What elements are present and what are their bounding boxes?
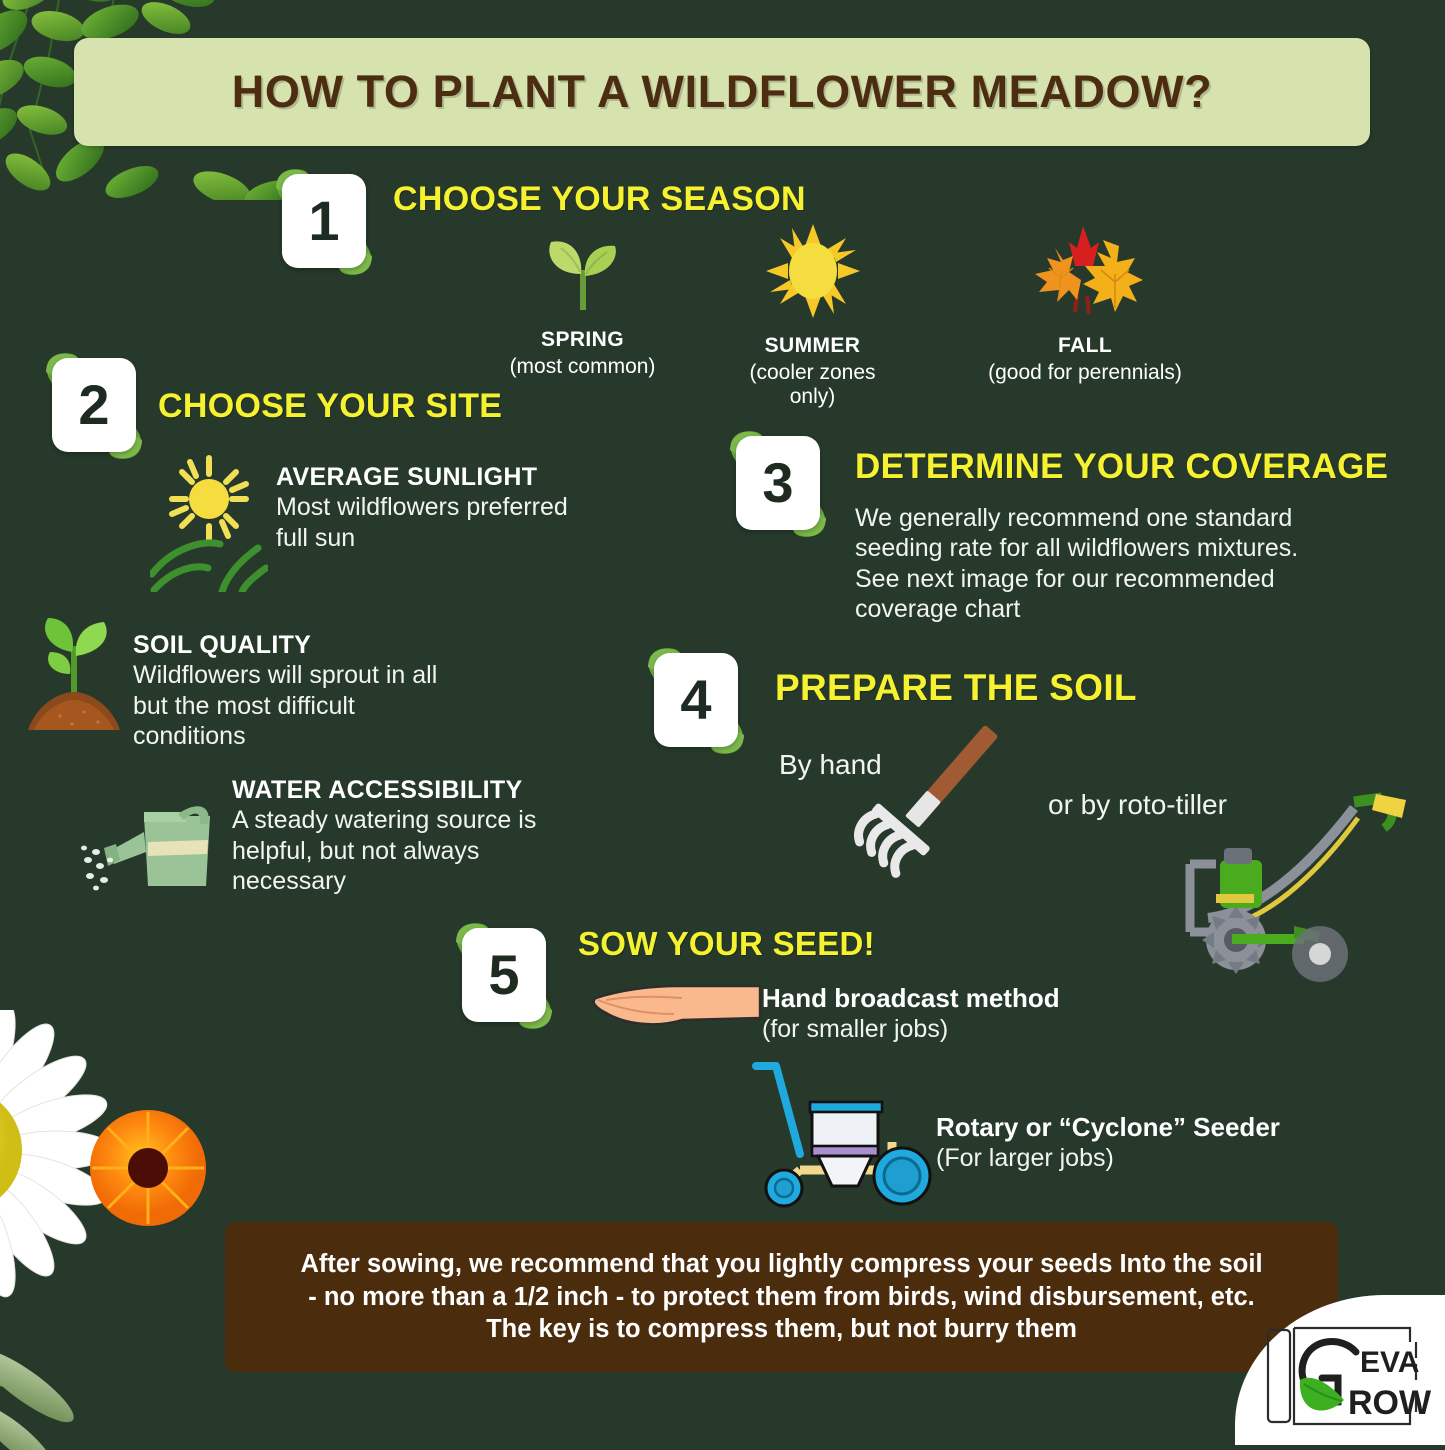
open-hand-icon <box>586 972 766 1048</box>
step-number: 2 <box>78 377 109 433</box>
rotary-seeder-note: (For larger jobs) <box>936 1143 1356 1173</box>
sun-icon <box>730 222 895 320</box>
season-spring: SPRING (most common) <box>500 222 665 379</box>
sun-over-field-icon <box>150 452 268 592</box>
daisy-and-calendula-decoration <box>0 1010 260 1450</box>
step-badge-4: 4 <box>640 645 752 757</box>
season-fall-note: (good for perennials) <box>985 361 1185 385</box>
step-3-heading: DETERMINE YOUR COVERAGE <box>855 447 1388 487</box>
water-line-3: necessary <box>232 866 652 896</box>
logo-line-2: ROW <box>1348 1384 1432 1422</box>
hand-broadcast-title: Hand broadcast method <box>762 983 1162 1014</box>
step-2-heading: CHOOSE YOUR SITE <box>158 387 502 426</box>
season-spring-note: (most common) <box>500 355 665 379</box>
rake-icon <box>840 720 1070 890</box>
coverage-line-4: coverage chart <box>855 594 1395 624</box>
step-badge-5: 5 <box>448 920 560 1032</box>
rotary-seeder-icon <box>742 1058 946 1220</box>
sunlight-line-1: Most wildflowers preferred <box>276 492 666 522</box>
coverage-text-block: We generally recommend one standard seed… <box>855 503 1395 624</box>
maple-leaves-icon <box>985 222 1185 320</box>
water-line-2: helpful, but not always <box>232 836 652 866</box>
rototiller-icon <box>1168 782 1445 998</box>
step-number: 3 <box>762 455 793 511</box>
page-title-banner: HOW TO PLANT A WILDFLOWER MEADOW? <box>74 38 1370 146</box>
season-fall: FALL (good for perennials) <box>985 222 1185 385</box>
badge-card: 2 <box>52 358 136 452</box>
seedling-icon <box>500 222 665 314</box>
logo-line-1: EVA <box>1360 1346 1419 1379</box>
sunlight-line-2: full sun <box>276 523 666 553</box>
watering-can-icon <box>78 790 228 900</box>
step-badge-3: 3 <box>722 428 834 540</box>
step-number: 4 <box>680 672 711 728</box>
soil-line-1: Wildflowers will sprout in all <box>133 660 533 690</box>
badge-card: 3 <box>736 436 820 530</box>
sunlight-text-block: AVERAGE SUNLIGHT Most wildflowers prefer… <box>276 462 666 553</box>
sunlight-title: AVERAGE SUNLIGHT <box>276 462 666 492</box>
season-summer-note: (cooler zones only) <box>730 361 895 409</box>
water-title: WATER ACCESSIBILITY <box>232 775 652 805</box>
badge-card: 1 <box>282 174 366 268</box>
step-number: 1 <box>308 193 339 249</box>
season-spring-name: SPRING <box>500 328 665 352</box>
footer-line-1: After sowing, we recommend that you ligh… <box>300 1250 1262 1278</box>
badge-card: 4 <box>654 653 738 747</box>
infographic-canvas: HOW TO PLANT A WILDFLOWER MEADOW? 1 CHOO… <box>0 0 1445 1445</box>
soil-text-block: SOIL QUALITY Wildflowers will sprout in … <box>133 630 533 751</box>
rotary-seeder-title: Rotary or “Cyclone” Seeder <box>936 1112 1356 1143</box>
footer-note-box: After sowing, we recommend that you ligh… <box>225 1222 1338 1372</box>
coverage-line-3: See next image for our recommended <box>855 564 1395 594</box>
rotary-seeder-text: Rotary or “Cyclone” Seeder (For larger j… <box>936 1112 1356 1174</box>
season-fall-name: FALL <box>985 334 1185 358</box>
hand-broadcast-note: (for smaller jobs) <box>762 1014 1162 1044</box>
step-5-heading: SOW YOUR SEED! <box>578 925 875 963</box>
soil-title: SOIL QUALITY <box>133 630 533 660</box>
footer-line-3: The key is to compress them, but not bur… <box>486 1315 1077 1343</box>
soil-line-3: conditions <box>133 721 533 751</box>
coverage-line-2: seeding rate for all wildflowers mixture… <box>855 533 1395 563</box>
water-line-1: A steady watering source is <box>232 805 652 835</box>
coverage-line-1: We generally recommend one standard <box>855 503 1395 533</box>
soil-line-2: but the most difficult <box>133 691 533 721</box>
page-title: HOW TO PLANT A WILDFLOWER MEADOW? <box>232 66 1213 118</box>
sprout-in-soil-icon <box>18 612 130 732</box>
step-badge-2: 2 <box>38 350 150 462</box>
water-text-block: WATER ACCESSIBILITY A steady watering so… <box>232 775 652 896</box>
step-number: 5 <box>488 947 519 1003</box>
step-1-heading: CHOOSE YOUR SEASON <box>393 180 806 219</box>
season-summer: SUMMER (cooler zones only) <box>730 222 895 409</box>
badge-card: 5 <box>462 928 546 1022</box>
step-4-heading: PREPARE THE SOIL <box>775 667 1137 709</box>
season-summer-name: SUMMER <box>730 334 895 358</box>
footer-line-2: - no more than a 1/2 inch - to protect t… <box>308 1283 1254 1311</box>
hand-broadcast-text: Hand broadcast method (for smaller jobs) <box>762 983 1162 1045</box>
step-badge-1: 1 <box>268 166 380 278</box>
